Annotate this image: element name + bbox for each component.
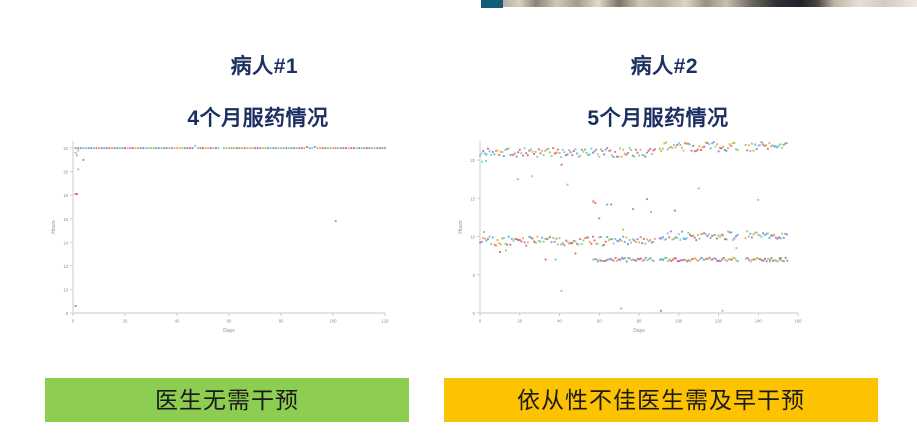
svg-text:120: 120 <box>382 319 390 324</box>
svg-text:60: 60 <box>597 319 602 324</box>
svg-text:40: 40 <box>175 319 180 324</box>
title-line-2: 5个月服药情况 <box>498 106 818 132</box>
svg-text:22: 22 <box>63 146 68 151</box>
svg-text:60: 60 <box>227 319 232 324</box>
teal-accent-bar <box>481 0 503 8</box>
svg-text:Days: Days <box>223 328 235 334</box>
callout-text: 依从性不佳医生需及早干预 <box>517 389 805 412</box>
svg-text:0: 0 <box>479 319 482 324</box>
scatter-chart-patient-1: 810121416182022020406080100120DaysHours <box>45 133 395 343</box>
svg-text:40: 40 <box>557 319 562 324</box>
cropped-photo-band <box>503 0 917 7</box>
svg-text:120: 120 <box>715 319 723 324</box>
title-line-1: 病人#2 <box>631 55 698 78</box>
svg-text:14: 14 <box>63 240 68 245</box>
svg-text:Days: Days <box>633 328 645 334</box>
svg-text:Hours: Hours <box>458 220 464 234</box>
svg-text:15: 15 <box>470 196 475 201</box>
svg-text:20: 20 <box>63 170 68 175</box>
svg-text:10: 10 <box>470 235 475 240</box>
chart-canvas-patient-2: 05101520020406080100120140160DaysHours <box>452 133 810 343</box>
callout-banner-early-intervention: 依从性不佳医生需及早干预 <box>444 378 878 422</box>
callout-banner-no-intervention: 医生无需干预 <box>45 378 409 422</box>
svg-text:Hours: Hours <box>51 220 57 234</box>
svg-text:20: 20 <box>517 319 522 324</box>
svg-text:0: 0 <box>473 311 476 316</box>
svg-text:16: 16 <box>63 217 68 222</box>
svg-text:0: 0 <box>72 319 75 324</box>
title-line-1: 病人#1 <box>231 55 298 78</box>
callout-text: 医生无需干预 <box>155 389 299 412</box>
top-edge-strip <box>0 0 917 8</box>
svg-text:18: 18 <box>63 193 68 198</box>
svg-text:140: 140 <box>755 319 763 324</box>
title-line-2: 4个月服药情况 <box>98 106 418 132</box>
svg-text:20: 20 <box>123 319 128 324</box>
svg-text:8: 8 <box>66 311 69 316</box>
svg-text:80: 80 <box>279 319 284 324</box>
svg-text:160: 160 <box>795 319 803 324</box>
svg-text:20: 20 <box>470 158 475 163</box>
svg-text:100: 100 <box>675 319 683 324</box>
svg-text:10: 10 <box>63 287 68 292</box>
svg-text:5: 5 <box>473 273 476 278</box>
chart-canvas-patient-1: 810121416182022020406080100120DaysHours <box>45 133 395 343</box>
svg-text:12: 12 <box>63 264 68 269</box>
svg-text:80: 80 <box>637 319 642 324</box>
svg-text:100: 100 <box>330 319 338 324</box>
scatter-chart-patient-2: 05101520020406080100120140160DaysHours <box>452 133 810 343</box>
